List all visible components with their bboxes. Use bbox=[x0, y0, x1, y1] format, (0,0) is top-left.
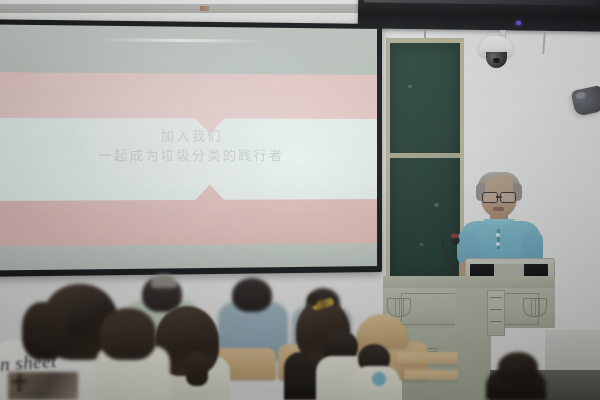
fan-motif-icon bbox=[387, 298, 411, 317]
housing-gloss bbox=[364, 0, 594, 6]
shirt-button bbox=[496, 233, 500, 237]
chalk-smudge bbox=[434, 203, 439, 207]
presenter-placket bbox=[497, 229, 500, 249]
equipment-rack bbox=[487, 290, 505, 336]
hair-bun bbox=[308, 294, 318, 306]
shirt-button bbox=[496, 242, 500, 246]
lens-right bbox=[500, 192, 516, 203]
chalkboard-right bbox=[386, 38, 464, 287]
audience-ponytail bbox=[186, 352, 208, 386]
lecture-hall-photo: 加入我们 一起成为垃圾分类的践行者 bbox=[0, 0, 600, 400]
audience-gray-hair bbox=[151, 274, 177, 288]
desk-shelf bbox=[404, 370, 458, 380]
desk-surface bbox=[396, 352, 458, 364]
status-led bbox=[516, 21, 521, 25]
slide-chevron-up-icon bbox=[195, 185, 224, 200]
audience-head bbox=[232, 278, 272, 312]
slide-subhead: 一起成为垃圾分类的践行者 bbox=[0, 147, 377, 167]
audience-head bbox=[498, 352, 538, 382]
projector-housing bbox=[358, 0, 600, 32]
slide-band-top bbox=[0, 25, 377, 75]
eyeglasses-icon bbox=[482, 192, 516, 201]
slide-band-pink-upper bbox=[0, 72, 377, 119]
slide-band-bottom bbox=[0, 243, 377, 270]
slide-band-pink-lower bbox=[0, 199, 377, 247]
projection-screen: 加入我们 一起成为垃圾分类的践行者 bbox=[0, 25, 377, 271]
rail-indicator bbox=[200, 6, 209, 11]
chalk-smudge bbox=[420, 243, 423, 246]
camera-lens-icon bbox=[493, 58, 500, 63]
tshirt-graphic-detail bbox=[18, 374, 21, 392]
presenter-mouth bbox=[493, 207, 504, 211]
speaker-highlight bbox=[575, 91, 586, 99]
tshirt-graphic-detail bbox=[12, 380, 27, 383]
chalkboard-right-divider bbox=[390, 153, 460, 158]
microphone-windscreen bbox=[451, 234, 458, 238]
fan-motif-icon bbox=[523, 298, 547, 317]
shirt-star-graphic bbox=[372, 372, 386, 386]
floor-right bbox=[545, 330, 600, 372]
audience-head bbox=[100, 308, 156, 360]
projection-screen-frame: 加入我们 一起成为垃圾分类的践行者 bbox=[0, 19, 382, 276]
ceiling-rail bbox=[0, 4, 358, 13]
chalk-smudge bbox=[408, 85, 412, 88]
slide-text-block: 加入我们 一起成为垃圾分类的践行者 bbox=[0, 128, 377, 166]
slide-headline: 加入我们 bbox=[0, 128, 377, 147]
